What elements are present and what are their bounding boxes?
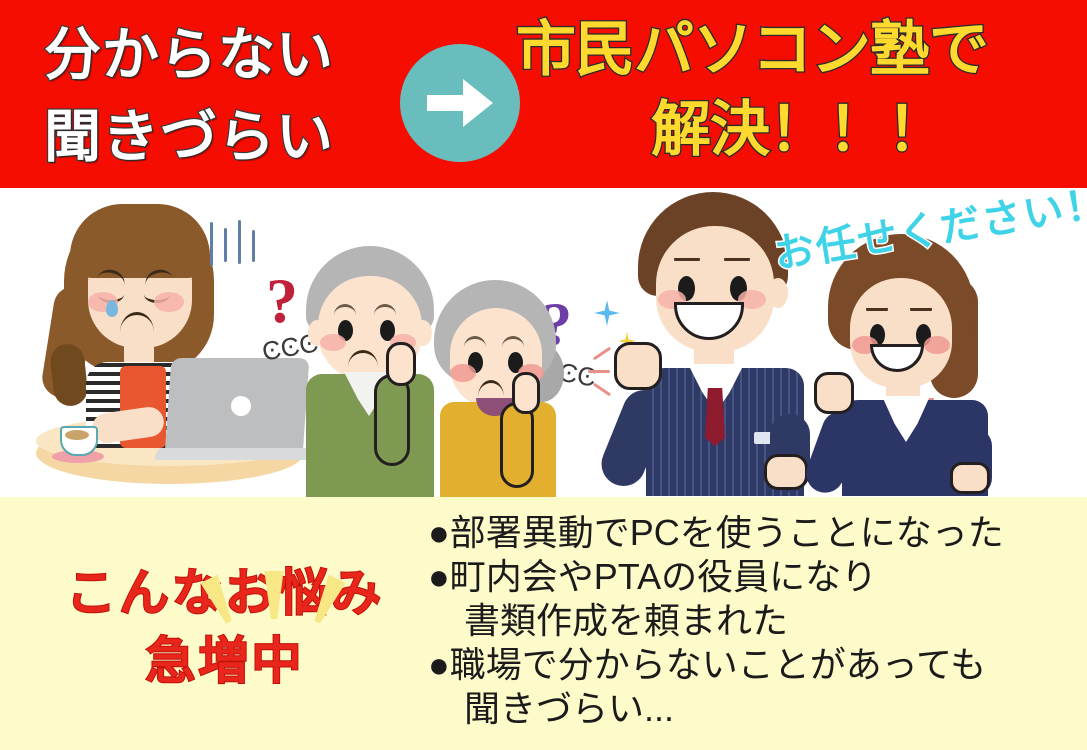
mustard-top [440, 402, 556, 497]
headline-banner: 分からない 聞きづらい 市民パソコン塾で 解決！！！ [0, 0, 1087, 188]
necktie [705, 388, 725, 446]
problems-section: こんなお悩み 急増中 ●部署異動でPCを使うことになった ●町内会やPTAの役員… [0, 497, 1087, 750]
problem-bullet-list: ●部署異動でPCを使うことになった ●町内会やPTAの役員になり 書類作成を頼ま… [428, 511, 1068, 731]
stress-lines-icon [208, 218, 264, 268]
tea-liquid [65, 430, 89, 440]
arm-raised [500, 402, 534, 488]
blush-left [450, 364, 476, 382]
elderly-woman-illustration: ? ϾϾϾ [424, 280, 574, 495]
sparkle-rays-icon [195, 567, 355, 625]
hand-on-hip [950, 462, 990, 494]
motion-dash-3 [593, 383, 611, 397]
ear [768, 278, 788, 308]
catch-line-2: 急増中 [40, 627, 410, 695]
problem-headline: 分からない 聞きづらい [44, 14, 414, 178]
solution-headline: 市民パソコン塾で 解決！！！ [516, 10, 1081, 170]
solution-line-2: 解決！！！ [516, 90, 1081, 170]
catch-copy: こんなお悩み 急増中 [40, 559, 410, 695]
fringe [70, 204, 210, 278]
blush-right [154, 292, 184, 312]
list-item: ●部署異動でPCを使うことになった [428, 511, 1068, 555]
ray-left [198, 575, 239, 628]
blush-left [320, 334, 346, 351]
ray-right [308, 575, 349, 628]
poster-root: 分からない 聞きづらい 市民パソコン塾で 解決！！！ [0, 0, 1087, 750]
list-item: ●町内会やPTAの役員になり [428, 555, 1068, 599]
list-item-continuation: 聞きづらい... [428, 687, 1068, 731]
hand-on-hip [764, 454, 808, 490]
problem-line-2: 聞きづらい [44, 96, 414, 178]
raised-fist [814, 372, 854, 414]
laptop-logo [231, 396, 251, 416]
arm-raised [374, 374, 410, 466]
raised-fist [614, 342, 662, 390]
hand-at-chin [512, 372, 540, 414]
arrow-circle [400, 44, 520, 162]
motion-dash-2 [588, 370, 610, 373]
problem-line-1: 分からない [44, 14, 414, 96]
illustration-band: ? ϾϾϾ ? ϾϾϾ [0, 188, 1087, 497]
motion-dash-1 [593, 347, 611, 361]
arrow-badge [400, 44, 520, 162]
right-arrow-icon [400, 44, 520, 162]
sparkle-icon-blue [594, 300, 620, 326]
ray-center [263, 571, 285, 619]
list-item: ●職場で分からないことがあっても [428, 643, 1068, 687]
question-mark-icon-red: ? [266, 264, 298, 338]
smiling-businesswoman-illustration [810, 234, 1030, 496]
solution-line-1: 市民パソコン塾で [516, 10, 1081, 90]
blush-right [924, 336, 950, 354]
hand-at-chin [386, 342, 416, 386]
tear-drop [106, 300, 118, 317]
list-item-continuation: 書類作成を頼まれた [428, 599, 1068, 643]
